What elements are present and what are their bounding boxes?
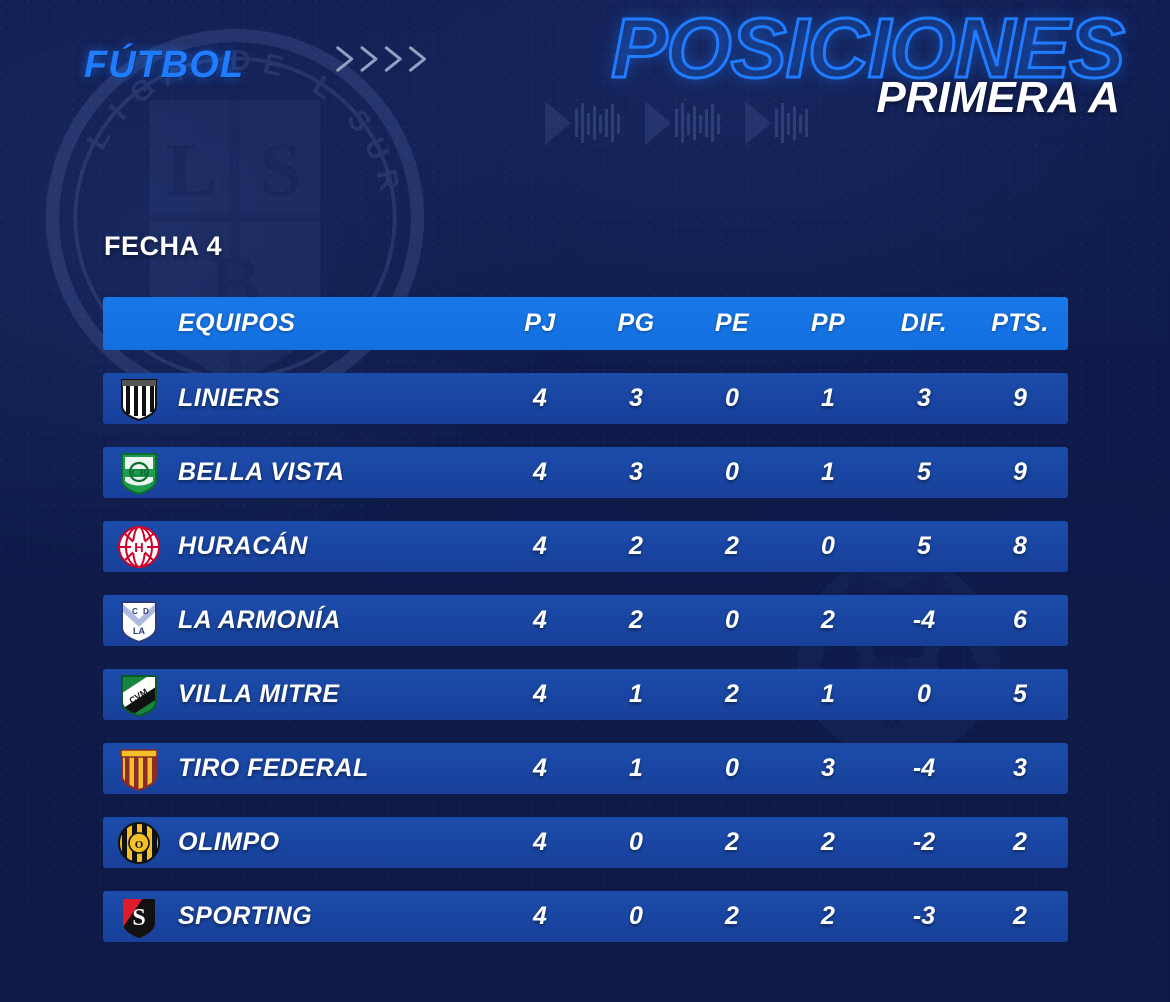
cell-pg: 3: [588, 458, 684, 487]
table-row[interactable]: H HURACÁN 4 2 2 0 5 8: [103, 521, 1068, 572]
liniers-crest-icon: [103, 377, 175, 421]
cell-pp: 0: [780, 532, 876, 561]
column-header-pj: PJ: [492, 309, 588, 338]
matchday-label: FECHA 4: [104, 231, 222, 262]
sporting-crest-icon: S: [103, 895, 175, 939]
cell-pj: 4: [492, 532, 588, 561]
team-name: LINIERS: [175, 384, 492, 413]
la-armonia-crest-icon: C D LA: [103, 599, 175, 643]
title-block: POSICIONES PRIMERA A: [611, 8, 1124, 123]
column-header-dif: DIF.: [876, 309, 972, 338]
column-header-pp: PP: [780, 309, 876, 338]
standings-table: EQUIPOS PJ PG PE PP DIF. PTS. LINIERS 4 …: [103, 297, 1068, 942]
table-row[interactable]: LINIERS 4 3 0 1 3 9: [103, 373, 1068, 424]
cell-pts: 9: [972, 458, 1068, 487]
sport-kicker: FÚTBOL: [84, 44, 244, 87]
cell-dif: -4: [876, 754, 972, 783]
huracan-crest-icon: H: [103, 525, 175, 569]
cell-pe: 0: [684, 754, 780, 783]
cell-dif: 3: [876, 384, 972, 413]
cell-pj: 4: [492, 680, 588, 709]
bella-vista-crest-icon: CB: [103, 451, 175, 495]
cell-pp: 2: [780, 606, 876, 635]
cell-pts: 5: [972, 680, 1068, 709]
cell-dif: -2: [876, 828, 972, 857]
cell-pj: 4: [492, 606, 588, 635]
cell-pts: 3: [972, 754, 1068, 783]
cell-pg: 3: [588, 384, 684, 413]
column-header-teams: EQUIPOS: [175, 309, 492, 338]
cell-pj: 4: [492, 902, 588, 931]
column-header-pe: PE: [684, 309, 780, 338]
cell-pts: 2: [972, 902, 1068, 931]
chevrons-right-icon: [334, 42, 446, 81]
team-name: OLIMPO: [175, 828, 492, 857]
team-name: HURACÁN: [175, 532, 492, 561]
page-header: FÚTBOL POSICIONES PRIMERA A: [0, 0, 1170, 160]
villa-mitre-crest-icon: CVM: [103, 673, 175, 717]
svg-text:CB: CB: [131, 467, 147, 479]
cell-dif: 0: [876, 680, 972, 709]
svg-text:S: S: [132, 905, 145, 931]
cell-pj: 4: [492, 458, 588, 487]
cell-pe: 0: [684, 606, 780, 635]
table-row[interactable]: TIRO FEDERAL 4 1 0 3 -4 3: [103, 743, 1068, 794]
svg-text:LA: LA: [133, 626, 145, 636]
cell-pts: 9: [972, 384, 1068, 413]
svg-text:C: C: [132, 607, 138, 616]
cell-pe: 2: [684, 532, 780, 561]
cell-dif: -4: [876, 606, 972, 635]
cell-pg: 0: [588, 902, 684, 931]
cell-pg: 0: [588, 828, 684, 857]
cell-pp: 1: [780, 680, 876, 709]
team-name: TIRO FEDERAL: [175, 754, 492, 783]
table-row[interactable]: C D LA LA ARMONÍA 4 2 0 2 -4 6: [103, 595, 1068, 646]
table-row[interactable]: CVM VILLA MITRE 4 1 2 1 0 5: [103, 669, 1068, 720]
cell-pts: 6: [972, 606, 1068, 635]
svg-text:H: H: [134, 540, 143, 555]
olimpo-crest-icon: O: [103, 821, 175, 865]
cell-pe: 2: [684, 680, 780, 709]
svg-text:D: D: [143, 607, 149, 616]
cell-pe: 0: [684, 384, 780, 413]
cell-pg: 2: [588, 606, 684, 635]
table-row[interactable]: CB BELLA VISTA 4 3 0 1 5 9: [103, 447, 1068, 498]
cell-pe: 2: [684, 828, 780, 857]
column-header-pg: PG: [588, 309, 684, 338]
cell-pj: 4: [492, 754, 588, 783]
cell-dif: 5: [876, 532, 972, 561]
team-name: SPORTING: [175, 902, 492, 931]
cell-pts: 2: [972, 828, 1068, 857]
cell-dif: -3: [876, 902, 972, 931]
cell-pj: 4: [492, 384, 588, 413]
cell-pj: 4: [492, 828, 588, 857]
cell-pp: 1: [780, 384, 876, 413]
cell-pe: 0: [684, 458, 780, 487]
cell-pg: 1: [588, 680, 684, 709]
cell-pg: 2: [588, 532, 684, 561]
cell-pp: 2: [780, 828, 876, 857]
team-name: LA ARMONÍA: [175, 606, 492, 635]
cell-pg: 1: [588, 754, 684, 783]
column-header-pts: PTS.: [972, 309, 1068, 338]
table-header-row: EQUIPOS PJ PG PE PP DIF. PTS.: [103, 297, 1068, 350]
cell-dif: 5: [876, 458, 972, 487]
cell-pp: 3: [780, 754, 876, 783]
team-name: VILLA MITRE: [175, 680, 492, 709]
cell-pp: 2: [780, 902, 876, 931]
table-row[interactable]: O OLIMPO 4 0 2 2 -2 2: [103, 817, 1068, 868]
tiro-federal-crest-icon: [103, 747, 175, 791]
svg-text:O: O: [135, 839, 144, 851]
table-row[interactable]: S SPORTING 4 0 2 2 -3 2: [103, 891, 1068, 942]
cell-pts: 8: [972, 532, 1068, 561]
cell-pe: 2: [684, 902, 780, 931]
cell-pp: 1: [780, 458, 876, 487]
team-name: BELLA VISTA: [175, 458, 492, 487]
